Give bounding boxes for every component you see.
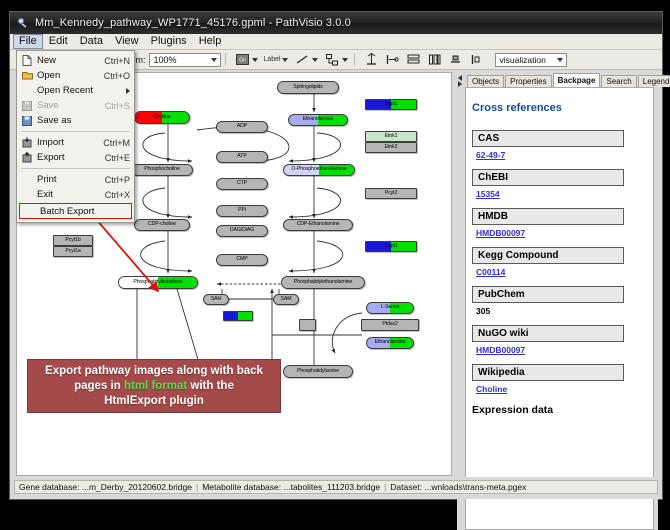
tab-objects[interactable]: Objects <box>467 75 504 87</box>
statusbar-content: Gene database: ...m_Derby_20120602.bridg… <box>14 480 658 494</box>
xref-block-pubchem: PubChem 305 <box>472 286 647 316</box>
file-menu-item-open-recent[interactable]: Open Recent <box>17 83 134 98</box>
pathway-node-choline[interactable]: Choline <box>134 111 190 124</box>
file-menu-item-shortcut: Ctrl+P <box>99 175 130 185</box>
xref-block-kegg: Kegg Compound C00114 <box>472 247 647 277</box>
interaction-dropdown-arrow[interactable] <box>341 52 350 68</box>
export-icon <box>17 151 37 164</box>
node-label: Phosphocholine <box>144 167 180 172</box>
new-document-icon <box>17 54 37 67</box>
xref-link-kegg[interactable]: C00114 <box>476 267 505 277</box>
content-area: SphingolipidsCholineEthanolamineADPATPPh… <box>10 70 662 477</box>
label-button-text: Label <box>263 56 280 63</box>
node-label: CDP-Ethanolamine <box>297 222 340 227</box>
status-metab-db-label: Metabolite database: <box>202 482 281 492</box>
status-metab-db-value: ...tabolites_111203.bridge <box>284 482 381 492</box>
submenu-arrow-icon <box>126 88 130 94</box>
node-label: Pcyt1a <box>65 249 80 254</box>
node-label: CTP <box>237 181 247 186</box>
pathway-node-pcyt1a[interactable]: Pcyt1a <box>53 246 93 257</box>
pathway-node-atp[interactable]: ATP <box>216 151 268 163</box>
file-menu-item-shortcut: Ctrl+O <box>98 71 130 81</box>
xref-value-kegg: C00114 <box>472 264 647 277</box>
node-label: Phosphatidylserine <box>297 369 339 374</box>
side-panel: Objects Properties Backpage Search Legen… <box>457 72 658 530</box>
align-left-button[interactable] <box>384 52 401 68</box>
file-menu-item-shortcut: Ctrl+N <box>98 56 130 66</box>
menu-separator <box>21 168 130 169</box>
toolbar-separator-2 <box>354 53 355 66</box>
side-panel-tabstrip[interactable]: Objects Properties Backpage Search Legen… <box>467 72 658 87</box>
pathway-node-phosphocholine[interactable]: Phosphocholine <box>131 164 193 176</box>
file-menu-item-label: Open <box>37 70 98 81</box>
node-label: CDP-choline <box>148 222 176 227</box>
xref-block-wikipedia: Wikipedia Choline <box>472 364 647 394</box>
xref-source-pubchem: PubChem <box>472 286 624 303</box>
node-label: PPi <box>238 208 246 213</box>
file-menu-item-open[interactable]: OpenCtrl+O <box>17 68 134 83</box>
pathway-node-ctp[interactable]: CTP <box>216 178 268 190</box>
pathway-node-adp[interactable]: ADP <box>216 121 268 133</box>
visualization-value: visualization <box>496 55 546 65</box>
node-label: Pcyt2 <box>385 191 397 196</box>
file-menu-item-label: Export <box>37 152 99 163</box>
node-label: Sphingolipids <box>293 85 323 90</box>
pathway-node-ethanolamine-1[interactable]: Ethanolamine <box>288 114 348 126</box>
file-menu-dropdown[interactable]: NewCtrl+NOpenCtrl+OOpen RecentSaveCtrl+S… <box>16 50 135 223</box>
menu-item-icon-empty <box>17 188 37 201</box>
node-label: Choline <box>154 115 171 120</box>
status-separator-1: | <box>192 482 202 492</box>
expression-data-title: Expression data <box>472 404 647 416</box>
open-folder-icon <box>17 69 37 82</box>
cross-references-title: Cross references <box>472 102 647 114</box>
xref-block-nugo: NuGO wiki HMDB00097 <box>472 325 647 355</box>
pathway-node-l-serine[interactable]: L-Serine <box>366 302 414 314</box>
xref-source-kegg: Kegg Compound <box>472 247 624 264</box>
annotation-callout: Export pathway images along with back pa… <box>27 359 281 413</box>
zoom-value: 100% <box>150 55 177 65</box>
callout-line-1: Export pathway images along with back <box>45 365 263 377</box>
pathway-node-dag-diag[interactable]: DAG/DiAG <box>216 225 268 237</box>
node-label: SAH <box>211 297 221 302</box>
node-label: O-Phosphoethanolamine <box>291 167 346 172</box>
window-titlebar: Mm_Kennedy_pathway_WP1771_45176.gpml - P… <box>10 12 662 35</box>
pathvisio-application-window: Mm_Kennedy_pathway_WP1771_45176.gpml - P… <box>9 11 663 500</box>
callout-line-3: HtmlExport plugin <box>104 395 204 407</box>
pathway-node-ptdss2[interactable]: Ptdss2 <box>361 319 419 331</box>
xref-value-chebi: 15354 <box>472 186 647 199</box>
file-menu-item-label: Exit <box>37 189 99 200</box>
node-label: DAG/DiAG <box>230 228 254 233</box>
node-label: Ptdss2 <box>382 322 397 327</box>
pathway-node-sgpl1[interactable]: Sgpl1 <box>365 99 417 110</box>
file-menu-item-shortcut: Ctrl+S <box>99 101 130 111</box>
datanode-dropdown-arrow[interactable] <box>251 52 260 68</box>
statusbar: Gene database: ...m_Derby_20120602.bridg… <box>10 477 662 499</box>
svg-text:Gn: Gn <box>239 58 246 64</box>
xref-source-nugo: NuGO wiki <box>472 325 624 342</box>
file-menu-item-new[interactable]: NewCtrl+N <box>17 53 134 68</box>
menu-file[interactable]: File <box>13 34 43 49</box>
node-label: L-Serine <box>381 305 400 310</box>
menu-help[interactable]: Help <box>193 34 228 49</box>
file-menu-item-shortcut: Ctrl+M <box>97 138 130 148</box>
callout-line-2-before: pages in <box>74 380 124 392</box>
xref-source-wikipedia: Wikipedia <box>472 364 624 381</box>
xref-value-hmdb: HMDB00097 <box>472 225 647 238</box>
pathway-node-etnk1[interactable]: Etnk1 <box>365 131 417 142</box>
menu-data[interactable]: Data <box>74 34 109 49</box>
callout-html-format-highlight: html format <box>124 380 187 392</box>
node-label: Pcyt1b <box>65 238 80 243</box>
file-menu-item-label: New <box>37 55 98 66</box>
file-menu-item-label: Save <box>37 100 99 111</box>
zoom-combobox[interactable]: 100% <box>149 53 221 67</box>
file-menu-item-export[interactable]: ExportCtrl+E <box>17 150 134 165</box>
same-width-button[interactable] <box>426 52 443 68</box>
xref-block-cas: CAS 62-49-7 <box>472 130 647 160</box>
xref-value-cas: 62-49-7 <box>472 147 647 160</box>
interaction-button[interactable] <box>324 52 341 68</box>
xref-value-wikipedia: Choline <box>472 381 647 394</box>
pathway-node-pcyt1b[interactable]: Pcyt1b <box>53 235 93 246</box>
xref-source-cas: CAS <box>472 130 624 147</box>
tab-legend[interactable]: Legend <box>638 75 670 87</box>
file-menu-item-label: Import <box>37 137 97 148</box>
backpage-content: Cross references CAS 62-49-7 ChEBI 15354… <box>465 87 654 530</box>
xref-value-pubchem: 305 <box>472 303 647 316</box>
xref-link-hmdb[interactable]: HMDB00097 <box>476 228 525 238</box>
pathway-node-sphingolipids[interactable]: Sphingolipids <box>277 81 339 94</box>
pathway-node-ppi[interactable]: PPi <box>216 205 268 217</box>
align-top-button[interactable] <box>363 52 380 68</box>
node-fill-left <box>224 312 238 320</box>
node-label: Phosphatidylethanolamine <box>294 280 352 285</box>
file-menu-item-label: Print <box>37 174 99 185</box>
tab-backpage[interactable]: Backpage <box>553 73 601 87</box>
stack-button[interactable] <box>447 52 464 68</box>
pathway-node-cmp[interactable]: CMP <box>216 254 268 266</box>
xref-source-chebi: ChEBI <box>472 169 624 186</box>
file-menu-item-batch-export[interactable]: Batch Export <box>19 203 132 219</box>
xref-link-cas[interactable]: 62-49-7 <box>476 150 505 160</box>
tab-properties[interactable]: Properties <box>505 75 551 87</box>
node-label: Etnk2 <box>385 145 398 150</box>
line-dropdown-arrow[interactable] <box>311 52 320 68</box>
pathway-node-cdp-ethanolamine[interactable]: CDP-Ethanolamine <box>283 219 353 231</box>
node-fill-right <box>238 312 252 320</box>
pathway-node-ptd-ethanolam[interactable]: Phosphatidylethanolamine <box>281 276 365 289</box>
pathvisio-app-icon <box>17 17 29 29</box>
node-label: ADP <box>237 124 247 129</box>
menu-separator <box>21 131 130 132</box>
menubar[interactable]: File Edit Data View Plugins Help <box>10 34 662 50</box>
datanode-button[interactable]: Gn <box>234 52 251 68</box>
tab-search[interactable]: Search <box>601 75 636 87</box>
pathway-node-pcyt2[interactable]: Pcyt2 <box>365 188 417 199</box>
label-button[interactable]: Label <box>264 52 281 68</box>
save-as-icon <box>17 114 37 127</box>
file-menu-item-shortcut: Ctrl+E <box>99 153 130 163</box>
node-label: Etnk1 <box>385 134 398 139</box>
import-icon <box>17 136 37 149</box>
chevron-down-icon <box>211 58 217 62</box>
pathway-node-ptd-serine[interactable]: Phosphatidylserine <box>283 365 353 378</box>
file-menu-item-label: Batch Export <box>40 206 121 217</box>
pathway-node-anchor-box[interactable] <box>299 319 316 331</box>
xref-link-wikipedia[interactable]: Choline <box>476 384 507 394</box>
file-menu-item-exit[interactable]: ExitCtrl+X <box>17 187 134 202</box>
menu-view[interactable]: View <box>109 34 145 49</box>
file-menu-item-shortcut: Ctrl+X <box>99 190 130 200</box>
node-label: ATP <box>237 154 246 159</box>
toolbar-separator <box>225 53 226 66</box>
file-menu-item-label: Save as <box>37 115 124 126</box>
same-height-button[interactable] <box>405 52 422 68</box>
file-menu-item-save-as[interactable]: Save as <box>17 113 134 128</box>
node-label: Ethanolamine <box>303 117 334 122</box>
menu-plugins[interactable]: Plugins <box>145 34 193 49</box>
node-label: Ethanolamine <box>375 340 406 345</box>
xref-value-nugo: HMDB00097 <box>472 342 647 355</box>
pathway-node-sam[interactable]: SAM <box>273 294 299 305</box>
file-menu-item-save[interactable]: SaveCtrl+S <box>17 98 134 113</box>
file-menu-item-label: Open Recent <box>37 85 116 96</box>
tab-scroll-down-icon[interactable] <box>458 81 462 87</box>
chevron-down-icon <box>557 58 563 62</box>
menu-item-icon-empty <box>17 84 37 97</box>
file-menu-item-print[interactable]: PrintCtrl+P <box>17 172 134 187</box>
node-label: CMP <box>236 257 247 262</box>
window-title: Mm_Kennedy_pathway_WP1771_45176.gpml - P… <box>35 17 351 29</box>
status-gene-db-value: ...m_Derby_20120602.bridge <box>82 482 192 492</box>
xref-source-hmdb: HMDB <box>472 208 624 225</box>
xref-block-hmdb: HMDB HMDB00097 <box>472 208 647 238</box>
status-separator-2: | <box>380 482 390 492</box>
pathway-node-ptd-cholines[interactable]: Phosphatidylkcholines <box>118 276 198 289</box>
bring-front-button[interactable] <box>468 52 485 68</box>
node-label: Cept1 <box>384 244 397 249</box>
pathway-node-ethanolamine-2[interactable]: Ethanolamine <box>366 337 414 349</box>
status-gene-db-label: Gene database: <box>19 482 80 492</box>
pathway-node-pemt[interactable] <box>223 311 253 321</box>
pathway-node-etnk2[interactable]: Etnk2 <box>365 142 417 153</box>
xref-link-nugo[interactable]: HMDB00097 <box>476 345 525 355</box>
label-dropdown-arrow[interactable] <box>281 52 290 68</box>
xref-link-chebi[interactable]: 15354 <box>476 189 500 199</box>
menu-edit[interactable]: Edit <box>43 34 74 49</box>
node-label: Sgpl1 <box>385 102 398 107</box>
status-dataset-value: ...wnloads\trans-meta.pgex <box>424 482 526 492</box>
pathway-node-cept1[interactable]: Cept1 <box>365 241 417 252</box>
callout-line-2-after: with the <box>187 380 234 392</box>
save-disk-icon <box>17 99 37 112</box>
menu-item-icon-empty <box>17 173 37 186</box>
desktop-background: Mm_Kennedy_pathway_WP1771_45176.gpml - P… <box>0 0 670 509</box>
line-button[interactable] <box>294 52 311 68</box>
status-dataset-label: Dataset: <box>390 482 422 492</box>
xref-block-chebi: ChEBI 15354 <box>472 169 647 199</box>
file-menu-item-import[interactable]: ImportCtrl+M <box>17 135 134 150</box>
pathway-node-cdp-choline[interactable]: CDP-choline <box>134 219 190 231</box>
pathway-node-sah[interactable]: SAH <box>203 294 229 305</box>
node-label: Phosphatidylkcholines <box>133 280 182 285</box>
node-label: SAM <box>281 297 292 302</box>
menu-item-icon-empty <box>20 205 40 218</box>
visualization-combobox[interactable]: visualization <box>495 53 567 67</box>
pathway-node-o-phosphoetham[interactable]: O-Phosphoethanolamine <box>283 164 355 176</box>
